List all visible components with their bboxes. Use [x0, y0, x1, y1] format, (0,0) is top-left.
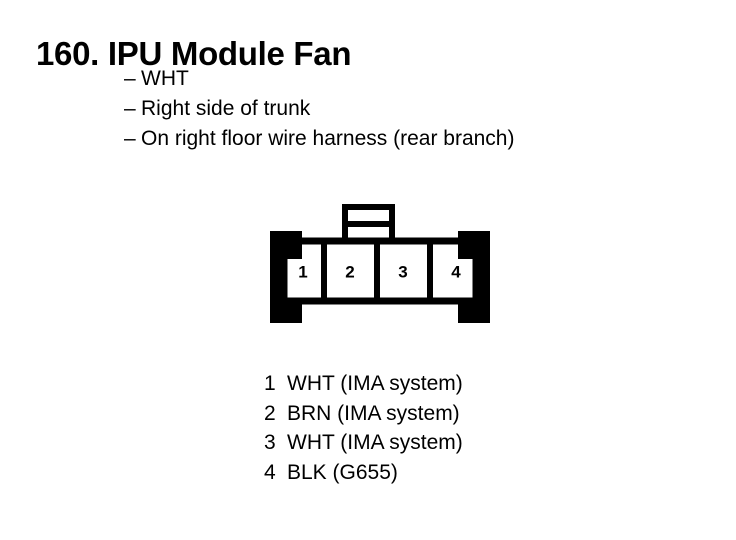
connector-pin-1-number: 1 [298, 262, 307, 281]
list-item-label: On right floor wire harness (rear branch… [141, 124, 514, 154]
pin-legend: 1 WHT (IMA system) 2 BRN (IMA system) 3 … [264, 369, 463, 487]
dash-bullet-icon: – [124, 124, 141, 154]
dash-bullet-icon: – [124, 94, 141, 124]
list-item: 4 BLK (G655) [264, 458, 463, 488]
list-item: 2 BRN (IMA system) [264, 399, 463, 429]
pin-legend-label: WHT (IMA system) [287, 369, 463, 399]
page-canvas: 160. IPU Module Fan – WHT – Right side o… [0, 0, 736, 540]
description-list: – WHT – Right side of trunk – On right f… [124, 64, 514, 154]
list-item: – WHT [124, 64, 514, 94]
list-item: – Right side of trunk [124, 94, 514, 124]
list-item-label: WHT [141, 64, 189, 94]
list-item-label: Right side of trunk [141, 94, 310, 124]
connector-diagram: 1 2 3 4 [262, 203, 498, 327]
pin-legend-number: 2 [264, 399, 287, 429]
connector-locking-tab [345, 207, 392, 241]
list-item: 1 WHT (IMA system) [264, 369, 463, 399]
pin-legend-label: BRN (IMA system) [287, 399, 460, 429]
list-item: – On right floor wire harness (rear bran… [124, 124, 514, 154]
pin-legend-number: 3 [264, 428, 287, 458]
pin-legend-label: WHT (IMA system) [287, 428, 463, 458]
connector-pin-3-number: 3 [398, 262, 407, 281]
list-item: 3 WHT (IMA system) [264, 428, 463, 458]
dash-bullet-icon: – [124, 64, 141, 94]
pin-legend-label: BLK (G655) [287, 458, 398, 488]
connector-pin-2-number: 2 [345, 262, 354, 281]
pin-legend-number: 4 [264, 458, 287, 488]
connector-pin-4-number: 4 [451, 262, 461, 281]
pin-legend-number: 1 [264, 369, 287, 399]
